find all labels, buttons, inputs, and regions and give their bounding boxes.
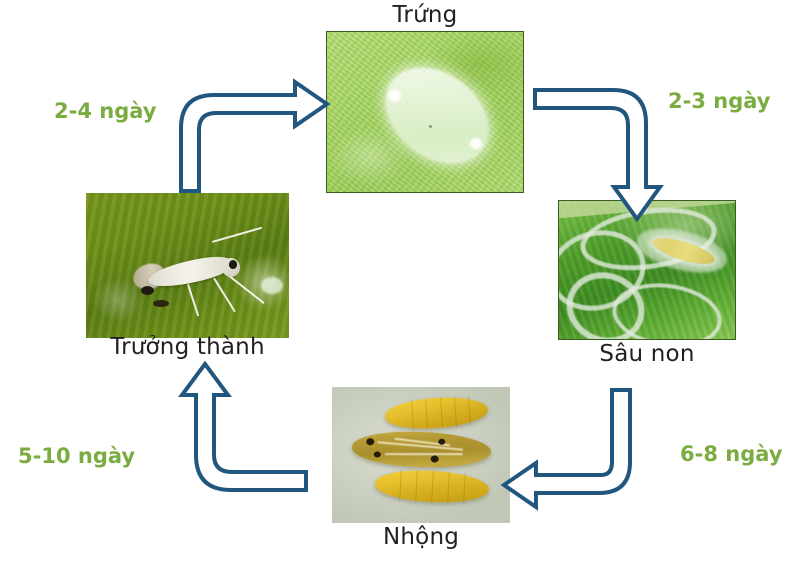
stage-label-egg: Trứng <box>326 2 524 28</box>
arrow-larva-to-pupa <box>504 390 630 507</box>
stage-label-adult: Trưởng thành <box>86 334 289 360</box>
duration-label-pupa-to-adult: 5-10 ngày <box>18 444 135 468</box>
life-cycle-diagram: Trứng Sâu non Nhộng Trưởng thành 2-4 ngà… <box>0 0 800 565</box>
stage-label-pupa: Nhộng <box>332 524 510 550</box>
arrow-adult-to-egg <box>181 82 327 191</box>
stage-label-larva: Sâu non <box>558 341 736 367</box>
duration-label-egg-to-larva: 2-3 ngày <box>668 89 770 113</box>
duration-label-larva-to-pupa: 6-8 ngày <box>680 442 782 466</box>
adult-photo <box>86 193 289 338</box>
egg-photo <box>326 31 524 193</box>
pupa-photo <box>332 387 510 523</box>
larva-photo <box>558 200 736 340</box>
duration-label-adult-to-egg: 2-4 ngày <box>54 99 156 123</box>
arrow-pupa-to-adult <box>182 364 306 490</box>
